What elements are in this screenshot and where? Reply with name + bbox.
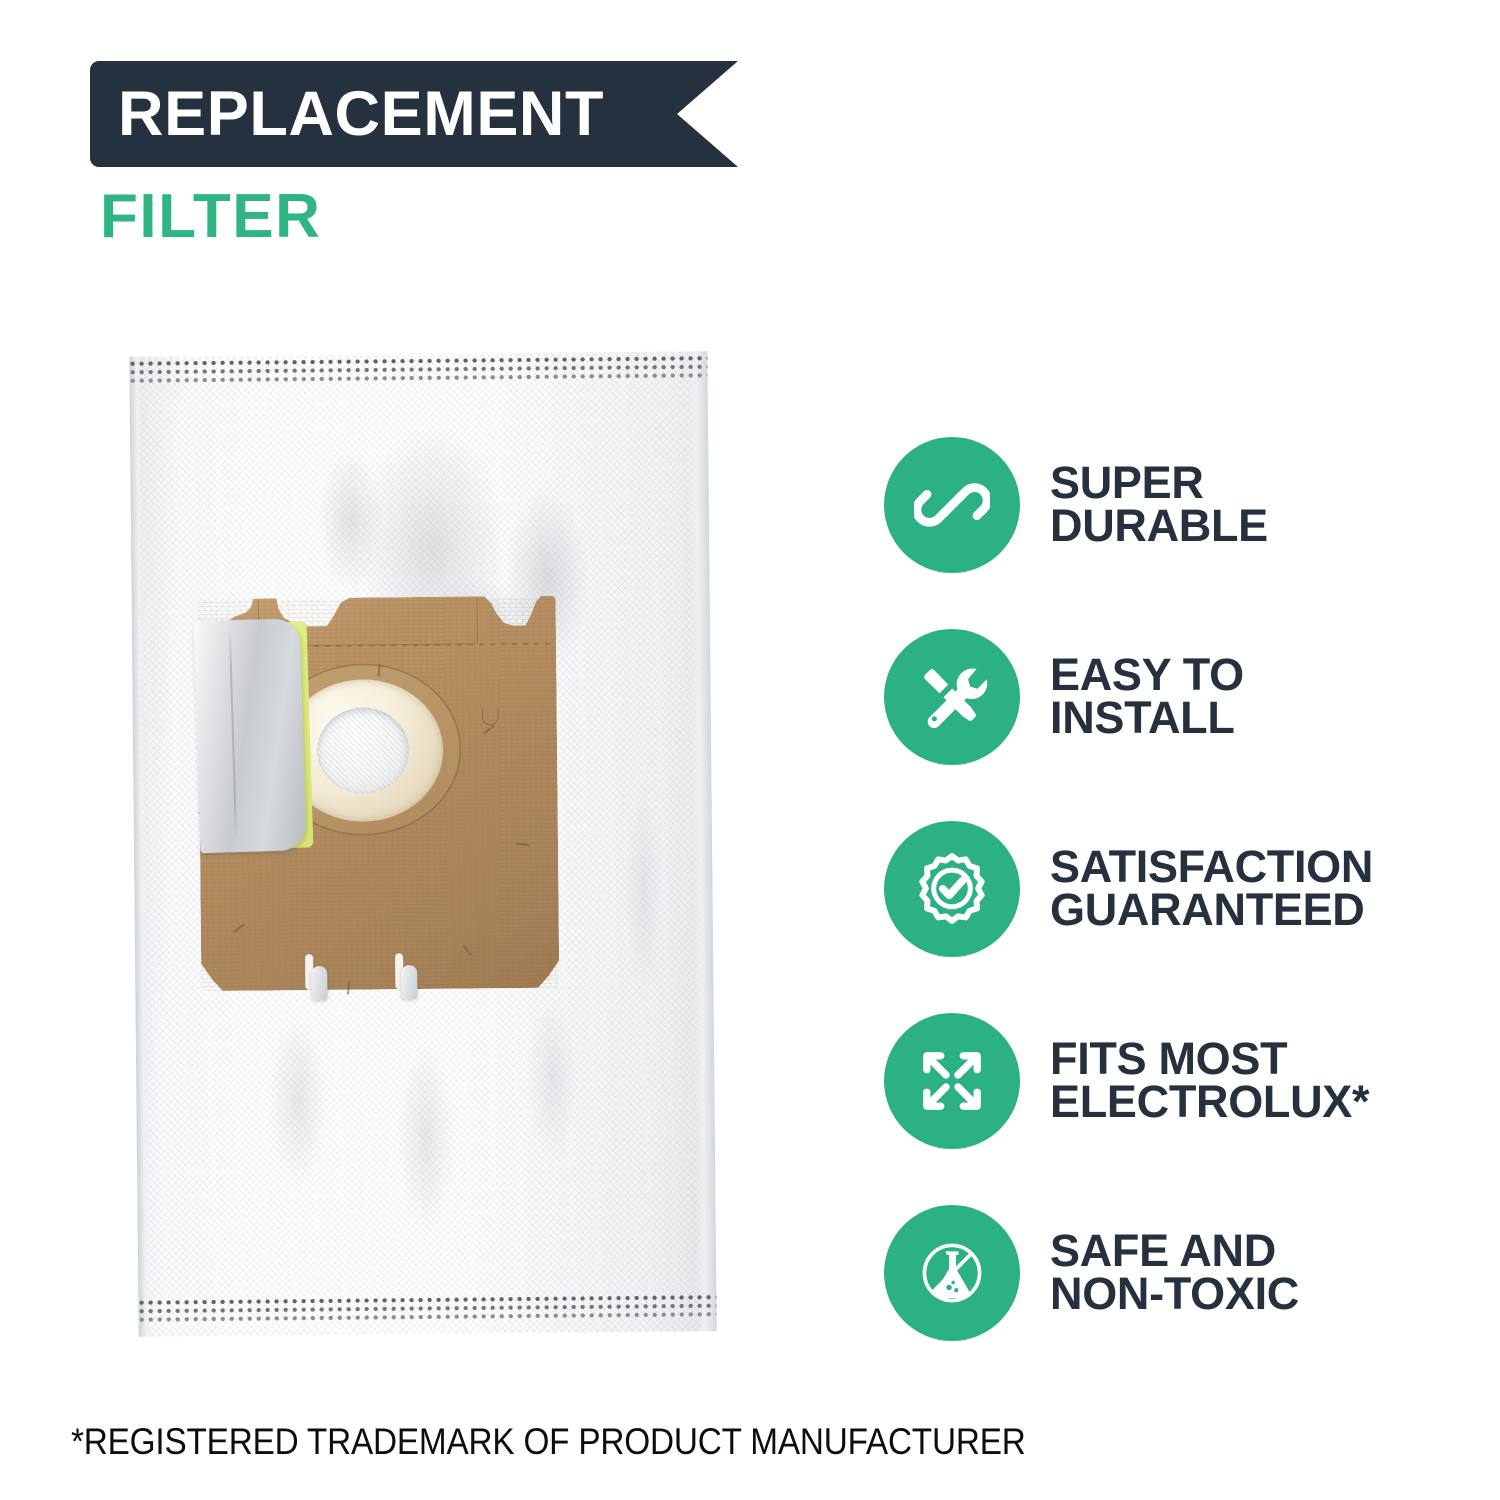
wrench-screwdriver-icon [914, 659, 990, 735]
feature-icon-badge [884, 1205, 1020, 1341]
feature-label: EASY TO INSTALL [1050, 654, 1244, 740]
collar-bottom-clip-left [311, 966, 327, 1000]
vacuum-bag-illustration [121, 345, 720, 1343]
feature-item-fits-most-electrolux: FITS MOST ELECTROLUX* [884, 1013, 1373, 1149]
bag-bottom-perforation-seam [138, 1293, 716, 1325]
feature-list: SUPER DURABLE EASY TO INSTALL [884, 437, 1373, 1341]
plastic-shutter-tab [193, 618, 306, 853]
feature-icon-badge [884, 629, 1020, 765]
feature-label: SUPER DURABLE [1050, 462, 1268, 548]
cardboard-collar [198, 596, 560, 991]
collar-intake-hole [317, 707, 410, 794]
trademark-footnote: *REGISTERED TRADEMARK OF PRODUCT MANUFAC… [71, 1421, 1026, 1463]
chain-link-icon [914, 467, 990, 543]
feature-label: FITS MOST ELECTROLUX* [1050, 1038, 1369, 1124]
feature-label-line2: INSTALL [1050, 697, 1244, 740]
feature-label: SAFE AND NON-TOXIC [1050, 1230, 1299, 1316]
feature-icon-badge [884, 821, 1020, 957]
page-subtitle: FILTER [90, 186, 738, 248]
ribbon-label: REPLACEMENT [90, 83, 604, 146]
feature-label-line2: DURABLE [1050, 505, 1268, 548]
bag-top-perforation-seam [129, 354, 707, 386]
replacement-ribbon-banner: REPLACEMENT [90, 61, 738, 167]
collar-bottom-clip-right [401, 965, 417, 999]
feature-item-safe-and-non-toxic: SAFE AND NON-TOXIC [884, 1205, 1373, 1341]
feature-item-super-durable: SUPER DURABLE [884, 437, 1373, 573]
product-image [126, 348, 716, 1340]
feature-label-line2: GUARANTEED [1050, 889, 1373, 932]
feature-item-easy-to-install: EASY TO INSTALL [884, 629, 1373, 765]
feature-item-satisfaction-guaranteed: SATISFACTION GUARANTEED [884, 821, 1373, 957]
feature-icon-badge [884, 1013, 1020, 1149]
feature-label: SATISFACTION GUARANTEED [1050, 846, 1373, 932]
collar-u-notch-mark [482, 708, 499, 725]
feature-icon-badge [884, 437, 1020, 573]
collar-ring-tick [377, 664, 380, 677]
feature-label-line2: ELECTROLUX* [1050, 1081, 1369, 1124]
feature-label-line2: NON-TOXIC [1050, 1273, 1299, 1316]
no-flask-icon [914, 1235, 990, 1311]
header: REPLACEMENT FILTER [90, 61, 738, 248]
expand-arrows-icon [914, 1043, 990, 1119]
badge-check-icon [914, 851, 990, 927]
